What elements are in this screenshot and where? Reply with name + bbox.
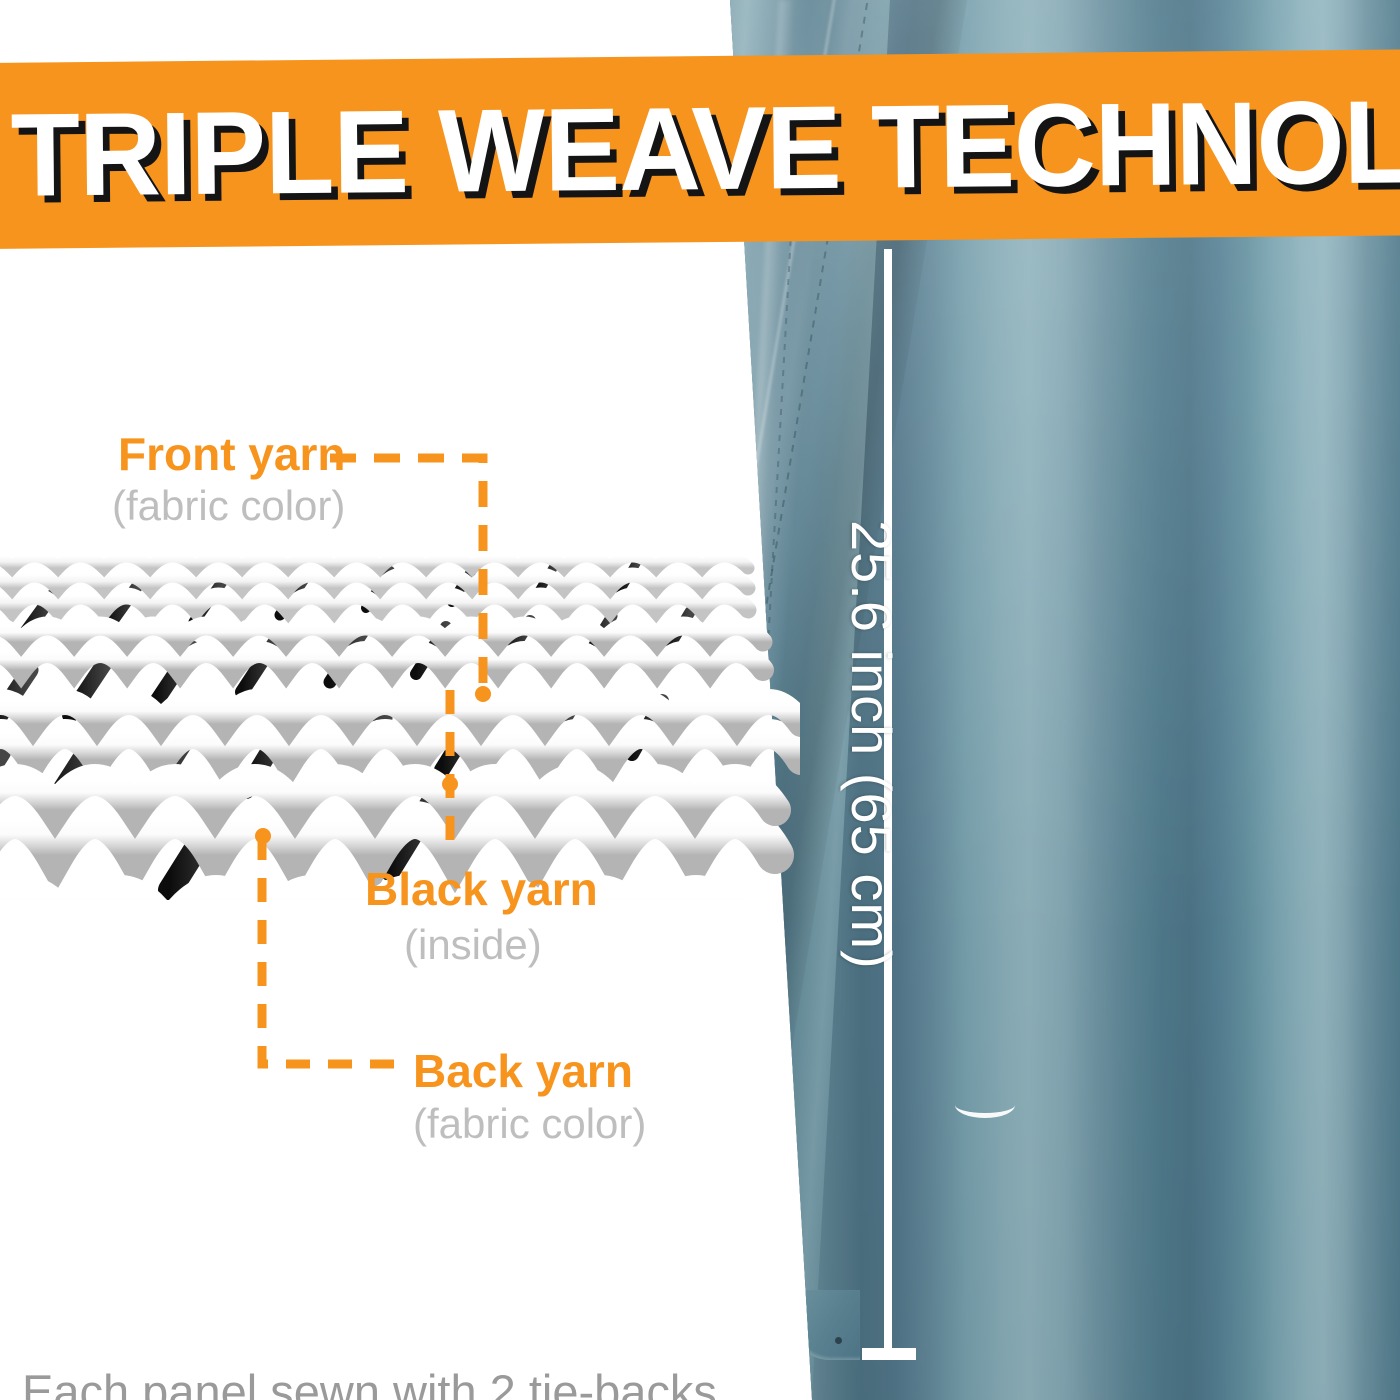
front-yarn-sublabel: (fabric color) bbox=[112, 482, 345, 530]
black-yarn-sublabel: (inside) bbox=[404, 921, 542, 969]
page-title: TRIPLE WEAVE TECHNOLOGY bbox=[10, 81, 1400, 215]
back-yarn-label: Back yarn bbox=[413, 1044, 633, 1098]
white-yarn-mid-rows bbox=[0, 626, 763, 670]
front-yarn-label: Front yarn bbox=[118, 427, 345, 481]
curtain-hem-curve-highlight bbox=[955, 1092, 1015, 1118]
footer-note: Each panel sewn with 2 tie-backs A set o… bbox=[22, 1248, 717, 1400]
black-yarn-leader-dot bbox=[442, 776, 458, 792]
measurement-end-cap bbox=[862, 1348, 916, 1360]
front-yarn-leader-dot bbox=[475, 686, 491, 702]
title-banner: TRIPLE WEAVE TECHNOLOGY bbox=[0, 49, 1400, 249]
footer-line-1: Each panel sewn with 2 tie-backs bbox=[22, 1363, 717, 1400]
triple-weave-illustration bbox=[0, 470, 800, 900]
back-yarn-sublabel: (fabric color) bbox=[413, 1100, 646, 1148]
measurement-label: 25.6 inch (65 cm) bbox=[839, 520, 904, 970]
back-yarn-leader-dot bbox=[255, 828, 271, 844]
infographic-canvas: 25.6 inch (65 cm) bbox=[0, 0, 1400, 1400]
curtain-hem-dot bbox=[835, 1337, 842, 1344]
black-yarn-label: Black yarn bbox=[365, 862, 598, 916]
curtain-hem bbox=[790, 1290, 860, 1360]
